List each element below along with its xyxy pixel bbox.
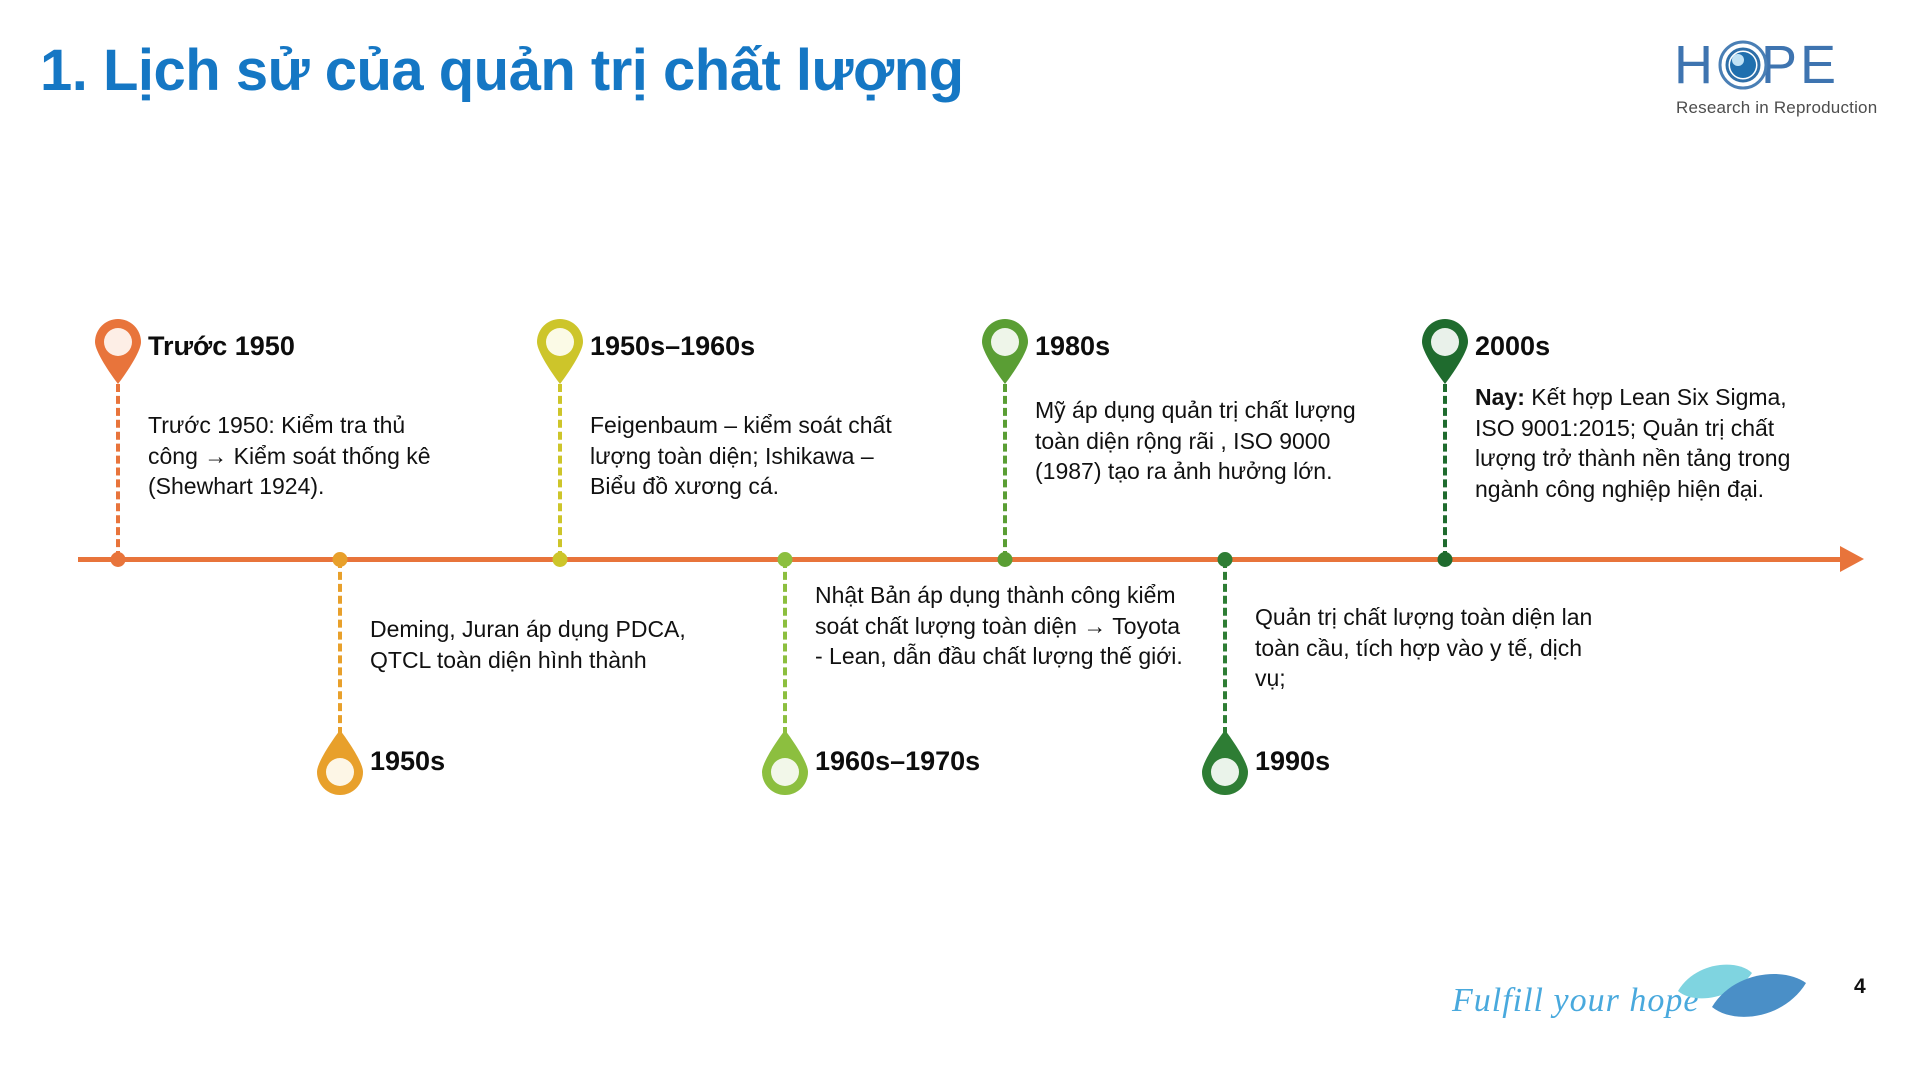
timeline-connector-2000s — [1443, 384, 1447, 559]
timeline-label-2000s: 2000s — [1475, 330, 1550, 362]
timeline-desc-prefix-2000s: Nay: — [1475, 384, 1525, 410]
slide-canvas: 1. Lịch sử của quản trị chất lượng HOPE … — [0, 0, 1920, 1080]
timeline-description-1960s-1970s: Nhật Bản áp dụng thành công kiểm soát ch… — [815, 580, 1185, 672]
hope-tagline: Research in Reproduction — [1676, 98, 1877, 118]
timeline-label-1950s: 1950s — [370, 745, 445, 777]
hope-logo: HOPE Research in Reproduction — [1674, 36, 1864, 128]
timeline-connector-1960s-1970s — [783, 560, 787, 735]
timeline-connector-1950s-1960s — [558, 384, 562, 559]
timeline-description-1990s: Quản trị chất lượng toàn diện lan toàn c… — [1255, 602, 1605, 694]
timeline-description-truoc-1950: Trước 1950: Kiểm tra thủ công → Kiểm soá… — [148, 410, 448, 502]
timeline-connector-1990s — [1223, 560, 1227, 735]
page-title: 1. Lịch sử của quản trị chất lượng — [40, 38, 964, 105]
timeline-pin-1990s[interactable] — [1198, 728, 1252, 796]
timeline-connector-1980s — [1003, 384, 1007, 559]
hope-wordmark: HOPE — [1674, 36, 1864, 94]
timeline-connector-1950s — [338, 560, 342, 735]
timeline-pin-1950s[interactable] — [313, 728, 367, 796]
timeline-pin-1980s[interactable] — [978, 318, 1032, 386]
timeline-label-1950s-1960s: 1950s–1960s — [590, 330, 755, 362]
timeline-label-1980s: 1980s — [1035, 330, 1110, 362]
timeline-pin-1960s-1970s[interactable] — [758, 728, 812, 796]
timeline-pin-2000s[interactable] — [1418, 318, 1472, 386]
hope-letter-h: H — [1674, 35, 1716, 95]
timeline-label-1990s: 1990s — [1255, 745, 1330, 777]
timeline-pin-1950s-1960s[interactable] — [533, 318, 587, 386]
timeline-pin-truoc-1950[interactable] — [91, 318, 145, 386]
hope-eye-icon — [1718, 40, 1768, 90]
timeline-connector-truoc-1950 — [116, 384, 120, 559]
timeline-description-2000s: Nay: Kết hợp Lean Six Sigma, ISO 9001:20… — [1475, 382, 1825, 504]
timeline-description-1950s-1960s: Feigenbaum – kiểm soát chất lượng toàn d… — [590, 410, 910, 502]
footer-tagline: Fulfill your hope — [1452, 982, 1699, 1020]
timeline-description-1950s: Deming, Juran áp dụng PDCA, QTCL toàn di… — [370, 614, 720, 675]
page-number: 4 — [1854, 975, 1866, 999]
timeline-label-1960s-1970s: 1960s–1970s — [815, 745, 980, 777]
timeline-label-truoc-1950: Trước 1950 — [148, 330, 295, 362]
timeline-arrow-icon — [1840, 546, 1864, 572]
timeline-description-1980s: Mỹ áp dụng quản trị chất lượng toàn diện… — [1035, 395, 1365, 487]
footer-leaves-icon — [1672, 955, 1812, 1027]
hope-letters-pe: PE — [1761, 35, 1839, 95]
